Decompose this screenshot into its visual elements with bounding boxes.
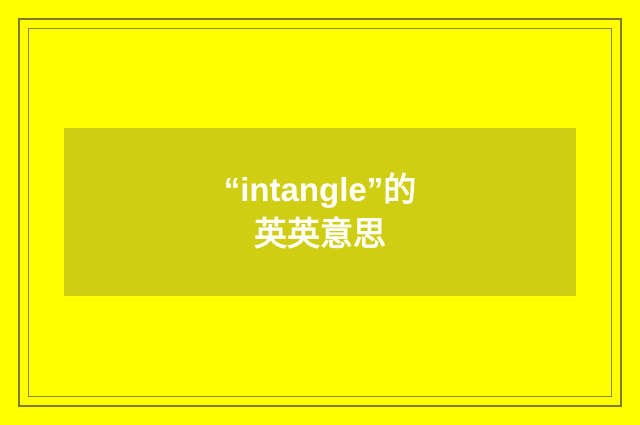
title-card: “intangle”的英英意思 <box>0 0 640 425</box>
caption-panel: “intangle”的英英意思 <box>64 128 576 296</box>
caption-title: “intangle”的英英意思 <box>208 168 432 255</box>
